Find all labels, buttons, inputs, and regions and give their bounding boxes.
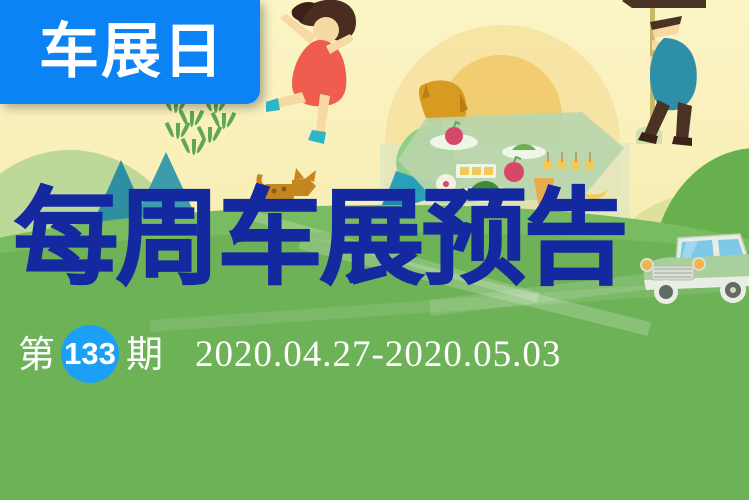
grass-tuft-icon	[168, 122, 188, 139]
issue-prefix-label: 第	[18, 336, 55, 373]
man-at-signpost-illustration	[600, 0, 730, 184]
issue-suffix-label: 期	[126, 336, 163, 373]
running-girl-illustration	[264, 0, 374, 151]
date-range-label: 2020.04.27-2020.05.03	[195, 333, 561, 376]
issue-line: 第 133 期 2020.04.27-2020.05.03	[18, 325, 561, 383]
weekly-autoshow-banner: 车展日 每周车展预告 第 133 期 2020.04.27-2020.05.03	[0, 0, 749, 500]
brand-logo[interactable]: 车展日	[0, 0, 260, 104]
page-title: 每周车展预告	[14, 186, 674, 290]
grass-tuft-icon	[184, 138, 204, 155]
issue-number-badge: 133	[61, 325, 119, 383]
logo-accent-chip	[0, 0, 14, 96]
logo-text: 车展日	[39, 22, 225, 82]
